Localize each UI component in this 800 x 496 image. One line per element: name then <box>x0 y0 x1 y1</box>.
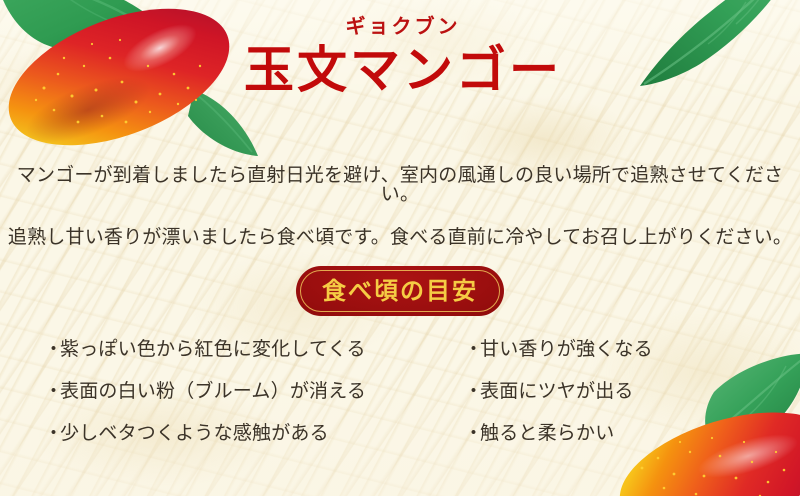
ripeness-list-left-column: ・ 紫っぽい色から紅色に変化してくる ・ 表面の白い粉（ブルーム）が消える ・ … <box>44 340 464 466</box>
list-item-label: 触ると柔らかい <box>480 424 614 443</box>
ripeness-section-badge: 食べ頃の目安 <box>296 266 504 316</box>
list-item-label: 少しベタつくような感触がある <box>60 424 329 443</box>
list-item: ・ 少しベタつくような感触がある <box>44 424 464 443</box>
list-item: ・ 甘い香りが強くなる <box>464 340 764 359</box>
section-badge-row: 食べ頃の目安 <box>0 266 800 316</box>
list-item: ・ 表面にツヤが出る <box>464 382 764 401</box>
list-item-label: 紫っぽい色から紅色に変化してくる <box>60 340 366 359</box>
bullet-dot-icon: ・ <box>464 340 480 359</box>
list-item: ・ 触ると柔らかい <box>464 424 764 443</box>
bullet-dot-icon: ・ <box>44 340 60 359</box>
list-item-label: 表面にツヤが出る <box>480 382 634 401</box>
bullet-dot-icon: ・ <box>464 382 480 401</box>
bullet-dot-icon: ・ <box>44 382 60 401</box>
mango-info-graphic: ギョクブン 玉文マンゴー マンゴーが到着しましたら直射日光を避け、室内の風通しの… <box>0 0 800 496</box>
ripeness-section-badge-label: 食べ頃の目安 <box>322 279 478 303</box>
bullet-dot-icon: ・ <box>44 424 60 443</box>
product-furigana: ギョクブン <box>0 16 800 36</box>
ripeness-signs-lists: ・ 紫っぽい色から紅色に変化してくる ・ 表面の白い粉（ブルーム）が消える ・ … <box>44 340 764 466</box>
bullet-dot-icon: ・ <box>464 424 480 443</box>
ripeness-list-right-column: ・ 甘い香りが強くなる ・ 表面にツヤが出る ・ 触ると柔らかい <box>464 340 764 466</box>
list-item: ・ 紫っぽい色から紅色に変化してくる <box>44 340 464 359</box>
page-title: 玉文マンゴー <box>0 44 800 97</box>
list-item-label: 甘い香りが強くなる <box>480 340 653 359</box>
list-item: ・ 表面の白い粉（ブルーム）が消える <box>44 382 464 401</box>
description-block: マンゴーが到着しましたら直射日光を避け、室内の風通しの良い場所で追熟させてくださ… <box>0 166 800 271</box>
description-line-1: マンゴーが到着しましたら直射日光を避け、室内の風通しの良い場所で追熟させてくださ… <box>0 166 800 204</box>
list-item-label: 表面の白い粉（ブルーム）が消える <box>60 382 366 401</box>
description-line-2: 追熟し甘い香りが漂いましたら食べ頃です。食べる直前に冷やしてお召し上がりください… <box>0 228 800 247</box>
header: ギョクブン 玉文マンゴー <box>0 16 800 97</box>
